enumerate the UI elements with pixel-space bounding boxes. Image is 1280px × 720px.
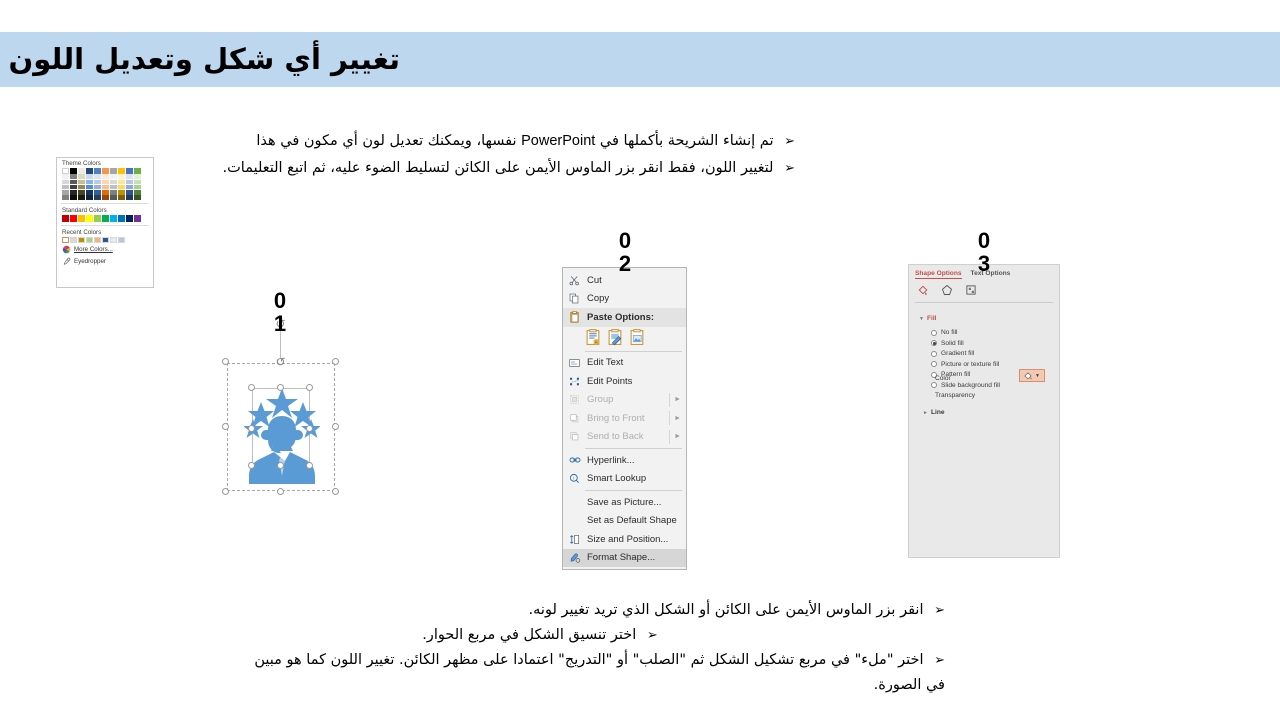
edit-points-icon: [566, 374, 583, 389]
step-number-01: 0 1: [265, 289, 295, 335]
intro-bullet-1-app-name: PowerPoint: [521, 133, 595, 149]
line-section-label: Line: [931, 409, 945, 416]
theme-swatch-0-1[interactable]: [62, 174, 69, 179]
standard-swatch-5[interactable]: [102, 215, 109, 222]
inner-handle-sw[interactable]: [248, 462, 255, 469]
theme-swatch-8-1[interactable]: [126, 174, 133, 179]
standard-swatch-0[interactable]: [62, 215, 69, 222]
pane-divider: [915, 302, 1053, 303]
submenu-divider: [669, 430, 670, 444]
step-bullet-2-text: اختر تنسيق الشكل في مربع الحوار.: [422, 627, 636, 643]
context-menu-item-send-to-back[interactable]: Send to Back ►: [563, 428, 686, 447]
step-bullet-3-text: اختر "ملء" في مربع تشكيل الشكل ثم "الصلب…: [254, 652, 923, 668]
theme-color-column-2: [78, 168, 85, 200]
theme-swatch-6-0[interactable]: [110, 168, 117, 174]
context-menu-item-edit-points[interactable]: Edit Points: [563, 372, 686, 391]
menu-separator: [585, 448, 682, 449]
theme-swatch-4-4[interactable]: [94, 190, 101, 195]
radio-indicator: [931, 382, 937, 388]
context-menu-item-smart-lookup[interactable]: i Smart Lookup: [563, 470, 686, 489]
svg-text:A: A: [595, 339, 598, 344]
intro-bullet-1-before: تم إنشاء الشريحة بأكملها في: [595, 133, 773, 149]
paste-keep-source-formatting-icon[interactable]: A: [585, 329, 602, 346]
theme-swatch-2-1[interactable]: [78, 174, 85, 179]
step-number-03-bottom: 3: [969, 252, 999, 275]
menu-separator: [585, 351, 682, 352]
theme-color-column-1: [70, 168, 77, 200]
theme-swatch-1-2[interactable]: [70, 180, 77, 185]
radio-solid-fill[interactable]: Solid fill: [931, 340, 1000, 347]
standard-swatch-2[interactable]: [78, 215, 85, 222]
step-number-01-top: 0: [265, 289, 295, 312]
radio-no-fill[interactable]: No fill: [931, 329, 1000, 336]
chevron-right-icon: ►: [674, 433, 681, 440]
color-picker-dropdown[interactable]: Theme Colors Standard Colors Recent Colo…: [56, 157, 154, 288]
theme-swatch-2-0[interactable]: [78, 168, 85, 174]
chevron-right-icon: ►: [674, 396, 681, 403]
theme-swatch-2-5[interactable]: [78, 195, 85, 200]
theme-swatch-5-2[interactable]: [102, 180, 109, 185]
inner-handle-ne[interactable]: [306, 384, 313, 391]
theme-swatch-4-3[interactable]: [94, 185, 101, 190]
empty-icon-slot: [566, 495, 583, 510]
bring-front-icon: [566, 411, 583, 426]
context-menu-label-copy: Copy: [583, 293, 609, 304]
bullet-arrow-icon: ➢: [784, 161, 795, 176]
paste-options-row[interactable]: A: [563, 327, 686, 349]
step-bullet-1: ➢ انقر بزر الماوس الأيمن على الكائن أو ا…: [135, 598, 945, 623]
group-icon: [566, 392, 583, 407]
recent-colors-header: Recent Colors: [57, 227, 153, 237]
theme-swatch-1-0[interactable]: [70, 168, 77, 174]
color-label: Color: [935, 375, 951, 382]
context-menu-item-bring-to-front[interactable]: Bring to Front ►: [563, 409, 686, 428]
theme-swatch-0-3[interactable]: [62, 185, 69, 190]
fill-section-label: Fill: [927, 315, 937, 322]
step-number-02-top: 0: [610, 229, 640, 252]
format-pane-icon-row[interactable]: [917, 284, 977, 296]
intro-bullet-2-text: لتغيير اللون، فقط انقر بزر الماوس الأيمن…: [223, 160, 774, 176]
size-properties-icon[interactable]: [965, 284, 977, 296]
step-number-03-top: 0: [969, 229, 999, 252]
context-menu-label-cut: Cut: [583, 275, 602, 286]
send-back-icon: [566, 429, 583, 444]
theme-swatch-5-0[interactable]: [102, 168, 109, 174]
theme-color-column-7: [118, 168, 125, 200]
eyedropper-item[interactable]: Eyedropper: [57, 255, 153, 267]
radio-indicator: [931, 330, 937, 336]
fill-bucket-icon[interactable]: [917, 284, 929, 296]
theme-swatch-3-5[interactable]: [86, 195, 93, 200]
theme-color-column-8: [126, 168, 133, 200]
context-menu-label-size-and-position: Size and Position...: [583, 534, 668, 545]
theme-swatch-8-3[interactable]: [126, 185, 133, 190]
triangle-down-icon: ▼: [919, 316, 924, 322]
format-shape-pane[interactable]: Shape Options Text Options ▼ Fill: [908, 264, 1060, 558]
size-position-icon: [566, 532, 583, 547]
theme-swatch-2-4[interactable]: [78, 190, 85, 195]
recent-swatch-1[interactable]: [70, 237, 77, 244]
resize-handle-sw[interactable]: [222, 488, 229, 495]
theme-swatch-0-0[interactable]: [62, 168, 69, 174]
theme-swatch-3-3[interactable]: [86, 185, 93, 190]
theme-swatch-1-4[interactable]: [70, 190, 77, 195]
step-bullet-2: ➢ اختر تنسيق الشكل في مربع الحوار.: [135, 623, 945, 648]
fill-color-button[interactable]: ▼: [1019, 369, 1045, 382]
theme-swatch-9-5[interactable]: [134, 195, 141, 200]
scissors-icon: [566, 273, 583, 288]
resize-handle-nw[interactable]: [222, 358, 229, 365]
step-number-01-bottom: 1: [265, 312, 295, 335]
context-menu-label-group: Group: [583, 394, 613, 405]
dropdown-divider: [61, 225, 149, 226]
bullet-arrow-icon: ➢: [934, 653, 945, 668]
inner-handle-e[interactable]: [306, 425, 313, 432]
radio-indicator: [931, 361, 937, 367]
radio-label-picture-or-texture-fill: Picture or texture fill: [941, 361, 999, 368]
inner-handle-n[interactable]: [277, 384, 284, 391]
context-menu[interactable]: Cut Copy Paste Options:: [562, 267, 687, 570]
more-colors-label: More Colors...: [74, 246, 113, 253]
theme-swatch-3-4[interactable]: [86, 190, 93, 195]
theme-colors-grid[interactable]: [57, 168, 153, 200]
theme-color-column-0: [62, 168, 69, 200]
format-shape-icon: [566, 550, 583, 565]
recent-swatch-3[interactable]: [86, 237, 93, 244]
chevron-down-icon[interactable]: ▼: [1035, 373, 1040, 379]
theme-swatch-8-0[interactable]: [126, 168, 133, 174]
context-menu-item-paste-options: Paste Options:: [563, 308, 686, 327]
theme-swatch-1-3[interactable]: [70, 185, 77, 190]
theme-swatch-9-1[interactable]: [134, 174, 141, 179]
eyedropper-icon: [62, 257, 71, 266]
powerpoint-slide: تغيير أي شكل وتعديل اللون ➢ تم إنشاء الش…: [0, 0, 1280, 720]
radio-gradient-fill[interactable]: Gradient fill: [931, 350, 1000, 357]
fill-section-header[interactable]: ▼ Fill: [919, 315, 936, 322]
intro-text-block: ➢ تم إنشاء الشريحة بأكملها في PowerPoint…: [130, 128, 795, 182]
theme-colors-header: Theme Colors: [57, 158, 153, 168]
bullet-arrow-icon: ➢: [647, 628, 658, 643]
theme-swatch-9-2[interactable]: [134, 180, 141, 185]
resize-handle-s[interactable]: [277, 488, 284, 495]
radio-picture-or-texture-fill[interactable]: Picture or texture fill: [931, 361, 1000, 368]
theme-swatch-0-2[interactable]: [62, 180, 69, 185]
standard-colors-header: Standard Colors: [57, 205, 153, 215]
resize-handle-w[interactable]: [222, 423, 229, 430]
context-menu-label-bring-to-front: Bring to Front: [583, 413, 645, 424]
theme-swatch-0-5[interactable]: [62, 195, 69, 200]
transparency-label: Transparency: [935, 392, 975, 399]
line-section-header[interactable]: ► Line: [923, 409, 945, 416]
theme-swatch-1-1[interactable]: [70, 174, 77, 179]
submenu-divider: [669, 411, 670, 425]
standard-swatch-3[interactable]: [86, 215, 93, 222]
theme-swatch-8-2[interactable]: [126, 180, 133, 185]
color-wheel-icon: [62, 245, 71, 254]
empty-icon-slot: [566, 513, 583, 528]
recent-swatch-2[interactable]: [78, 237, 85, 244]
copy-icon: [566, 291, 583, 306]
step-number-02: 0 2: [610, 229, 640, 275]
context-menu-item-group[interactable]: Group ►: [563, 391, 686, 410]
radio-label-no-fill: No fill: [941, 329, 958, 336]
context-menu-item-hyperlink[interactable]: Hyperlink...: [563, 451, 686, 470]
theme-swatch-0-4[interactable]: [62, 190, 69, 195]
theme-swatch-3-1[interactable]: [86, 174, 93, 179]
theme-swatch-7-1[interactable]: [118, 174, 125, 179]
theme-color-column-9: [134, 168, 141, 200]
submenu-divider: [669, 393, 670, 407]
paste-picture-icon[interactable]: [629, 329, 646, 346]
theme-swatch-7-4[interactable]: [118, 190, 125, 195]
context-menu-label-hyperlink: Hyperlink...: [583, 455, 635, 466]
context-menu-label-send-to-back: Send to Back: [583, 431, 644, 442]
theme-swatch-9-3[interactable]: [134, 185, 141, 190]
context-menu-item-save-as-picture[interactable]: Save as Picture...: [563, 493, 686, 512]
context-menu-label-save-as-picture: Save as Picture...: [583, 497, 661, 508]
dropdown-divider: [61, 203, 149, 204]
theme-swatch-4-2[interactable]: [94, 180, 101, 185]
step-bullet-4-text: في الصورة.: [874, 677, 945, 693]
recent-swatch-0[interactable]: [62, 237, 69, 244]
standard-swatch-6[interactable]: [110, 215, 117, 222]
chevron-right-icon: ►: [674, 415, 681, 422]
svg-text:i: i: [573, 476, 574, 481]
theme-swatch-2-3[interactable]: [78, 185, 85, 190]
intro-bullet-1: ➢ تم إنشاء الشريحة بأكملها في PowerPoint…: [130, 128, 795, 155]
inner-handle-s[interactable]: [277, 462, 284, 469]
theme-swatch-8-4[interactable]: [126, 190, 133, 195]
standard-swatch-9[interactable]: [134, 215, 141, 222]
eyedropper-label: Eyedropper: [74, 258, 106, 265]
radio-label-slide-background-fill: Slide background fill: [941, 382, 1000, 389]
recent-swatch-7[interactable]: [118, 237, 125, 244]
radio-slide-background-fill[interactable]: Slide background fill: [931, 382, 1000, 389]
hyperlink-icon: [566, 453, 583, 468]
bullet-arrow-icon: ➢: [934, 603, 945, 618]
theme-swatch-6-4[interactable]: [110, 190, 117, 195]
theme-swatch-4-0[interactable]: [94, 168, 101, 174]
theme-swatch-7-3[interactable]: [118, 185, 125, 190]
step-bullet-3: ➢ اختر "ملء" في مربع تشكيل الشكل ثم "الص…: [135, 648, 945, 673]
step-bullet-4: في الصورة.: [135, 673, 945, 698]
context-menu-item-set-as-default-shape[interactable]: Set as Default Shape: [563, 512, 686, 531]
theme-swatch-4-1[interactable]: [94, 174, 101, 179]
recent-swatch-6[interactable]: [110, 237, 117, 244]
inner-handle-se[interactable]: [306, 462, 313, 469]
radio-label-gradient-fill: Gradient fill: [941, 350, 974, 357]
theme-swatch-9-4[interactable]: [134, 190, 141, 195]
selected-shape-group[interactable]: ↺ ↺: [222, 358, 340, 496]
steps-text-block: ➢ انقر بزر الماوس الأيمن على الكائن أو ا…: [135, 598, 945, 698]
theme-swatch-5-5[interactable]: [102, 195, 109, 200]
tab-shape-options[interactable]: Shape Options: [915, 270, 962, 279]
theme-color-column-3: [86, 168, 93, 200]
standard-swatch-1[interactable]: [70, 215, 77, 222]
intro-bullet-2: ➢ لتغيير اللون، فقط انقر بزر الماوس الأي…: [130, 155, 795, 182]
inner-handle-nw[interactable]: [248, 384, 255, 391]
theme-swatch-7-2[interactable]: [118, 180, 125, 185]
bullet-arrow-icon: ➢: [784, 134, 795, 149]
context-menu-label-set-as-default-shape: Set as Default Shape: [583, 515, 677, 526]
standard-colors-row[interactable]: [57, 215, 153, 222]
theme-color-column-5: [102, 168, 109, 200]
theme-color-column-6: [110, 168, 117, 200]
recent-swatch-4[interactable]: [94, 237, 101, 244]
edit-text-icon: [566, 355, 583, 370]
context-menu-label-format-shape: Format Shape...: [583, 552, 655, 563]
theme-swatch-7-0[interactable]: [118, 168, 125, 174]
resize-handle-se[interactable]: [332, 488, 339, 495]
radio-indicator: [931, 351, 937, 357]
clipboard-icon: [566, 310, 583, 325]
menu-separator: [585, 490, 682, 491]
theme-swatch-6-2[interactable]: [110, 180, 117, 185]
radio-indicator-selected: [931, 340, 937, 346]
inner-handle-w[interactable]: [248, 425, 255, 432]
theme-swatch-8-5[interactable]: [126, 195, 133, 200]
theme-color-column-4: [94, 168, 101, 200]
intro-bullet-1-after: نفسها، ويمكنك تعديل لون أي مكون في هذا: [256, 133, 521, 149]
radio-label-solid-fill: Solid fill: [941, 340, 964, 347]
standard-swatch-7[interactable]: [118, 215, 125, 222]
theme-swatch-3-2[interactable]: [86, 180, 93, 185]
triangle-right-icon: ►: [923, 410, 928, 416]
context-menu-label-edit-text: Edit Text: [583, 357, 623, 368]
paste-use-destination-theme-icon[interactable]: [607, 329, 624, 346]
theme-swatch-5-1[interactable]: [102, 174, 109, 179]
more-colors-item[interactable]: More Colors...: [57, 243, 153, 255]
theme-swatch-4-5[interactable]: [94, 195, 101, 200]
standard-swatch-4[interactable]: [94, 215, 101, 222]
effects-pentagon-icon[interactable]: [941, 284, 953, 296]
step-bullet-1-text: انقر بزر الماوس الأيمن على الكائن أو الش…: [529, 602, 924, 618]
context-menu-label-edit-points: Edit Points: [583, 376, 632, 387]
theme-swatch-1-5[interactable]: [70, 195, 77, 200]
theme-swatch-6-1[interactable]: [110, 174, 117, 179]
theme-swatch-6-5[interactable]: [110, 195, 117, 200]
theme-swatch-7-5[interactable]: [118, 195, 125, 200]
resize-handle-ne[interactable]: [332, 358, 339, 365]
standard-swatch-8[interactable]: [126, 215, 133, 222]
step-number-02-bottom: 2: [610, 252, 640, 275]
theme-swatch-2-2[interactable]: [78, 180, 85, 185]
recent-swatch-5[interactable]: [102, 237, 109, 244]
context-menu-item-copy[interactable]: Copy: [563, 290, 686, 309]
step-number-03: 0 3: [969, 229, 999, 275]
theme-swatch-6-3[interactable]: [110, 185, 117, 190]
resize-handle-e[interactable]: [332, 423, 339, 430]
theme-swatch-5-3[interactable]: [102, 185, 109, 190]
inner-rotation-handle-icon[interactable]: ↺: [274, 356, 287, 369]
theme-swatch-3-0[interactable]: [86, 168, 93, 174]
theme-swatch-5-4[interactable]: [102, 190, 109, 195]
context-menu-item-size-and-position[interactable]: Size and Position...: [563, 530, 686, 549]
smart-lookup-icon: i: [566, 471, 583, 486]
context-menu-item-format-shape[interactable]: Format Shape...: [563, 549, 686, 568]
theme-swatch-9-0[interactable]: [134, 168, 141, 174]
context-menu-label-smart-lookup: Smart Lookup: [583, 473, 646, 484]
context-menu-item-edit-text[interactable]: Edit Text: [563, 354, 686, 373]
paint-bucket-icon: [1023, 371, 1033, 381]
page-title: تغيير أي شكل وتعديل اللون: [14, 37, 400, 81]
context-menu-label-paste-options: Paste Options:: [583, 312, 654, 323]
